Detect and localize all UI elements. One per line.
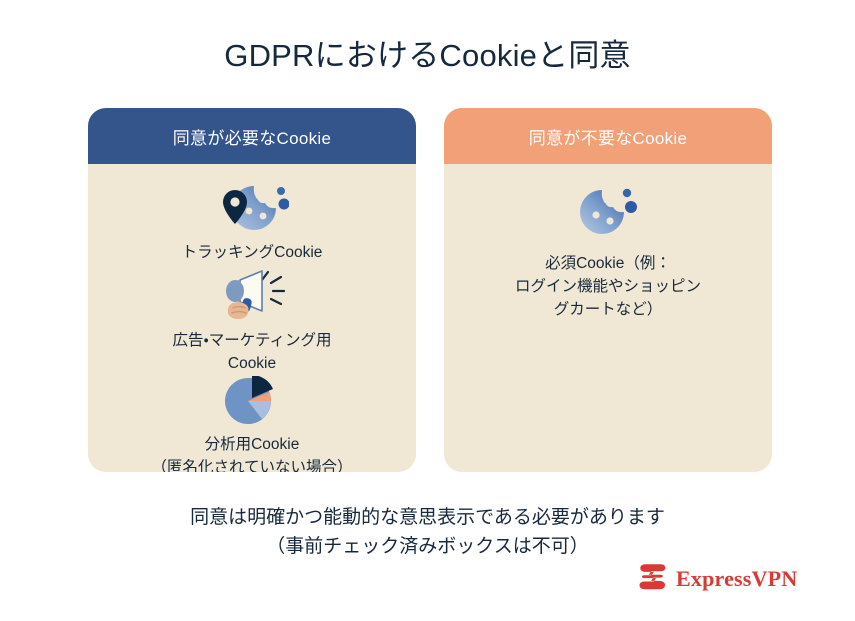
panel-header-consent-required: 同意が必要なCookie	[88, 108, 416, 164]
page-title: GDPRにおけるCookieと同意	[0, 36, 855, 76]
megaphone-marketing-icon	[215, 268, 289, 322]
expressvpn-wordmark: ExpressVPN	[676, 566, 797, 592]
expressvpn-logo: ExpressVPN	[637, 562, 797, 595]
panel-consent-not-required: 同意が不要なCookie	[444, 108, 772, 472]
panel-body-consent-required: トラッキングCookie	[88, 164, 416, 472]
tracking-cookie-pin-icon	[215, 182, 289, 234]
panel-body-consent-not-required: 必須Cookie（例： ログイン機能やショッピン グカートなど）	[444, 164, 772, 472]
list-item: 広告・マーケティング用 Cookie	[88, 268, 416, 375]
slide-canvas: GDPRにおけるCookieと同意 同意が必要なCookie	[0, 0, 855, 621]
essential-cookie-icon	[577, 184, 639, 240]
list-item-label: トラッキングCookie	[182, 241, 323, 264]
list-item-label: 分析用Cookie （匿名化されていない場合）	[151, 433, 352, 472]
panel-consent-required: 同意が必要なCookie	[88, 108, 416, 472]
panel-header-consent-not-required: 同意が不要なCookie	[444, 108, 772, 164]
list-item: 分析用Cookie （匿名化されていない場合）	[88, 376, 416, 472]
list-item: トラッキングCookie	[88, 182, 416, 264]
list-item: 必須Cookie（例： ログイン機能やショッピン グカートなど）	[444, 184, 772, 321]
list-item-label: 広告・マーケティング用 Cookie	[172, 329, 331, 375]
footer-note: 同意は明確かつ能動的な意思表示である必要があります （事前チェック済みボックスは…	[0, 503, 855, 561]
expressvpn-e-mark-icon	[637, 562, 667, 595]
pie-chart-analytics-icon	[218, 376, 286, 426]
list-item-label: 必須Cookie（例： ログイン機能やショッピン グカートなど）	[515, 252, 701, 321]
panels-container: 同意が必要なCookie	[88, 108, 772, 472]
